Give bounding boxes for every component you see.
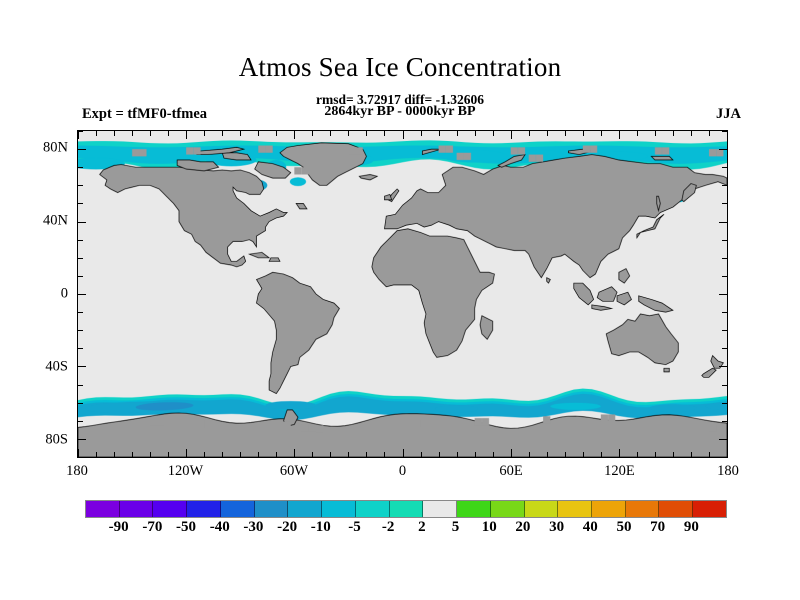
- colorbar-swatch: [457, 501, 491, 517]
- axis-tick: [637, 452, 638, 457]
- axis-tick: [132, 452, 133, 457]
- axis-tick: [673, 452, 674, 457]
- colorbar-swatch: [356, 501, 390, 517]
- axis-tick: [312, 131, 313, 136]
- axis-tick: [78, 131, 79, 139]
- axis-tick: [78, 457, 83, 458]
- axis-tick: [240, 452, 241, 457]
- colorbar-swatch: [221, 501, 255, 517]
- axis-tick: [439, 452, 440, 457]
- axis-tick: [78, 276, 83, 277]
- colorbar-swatch: [558, 501, 592, 517]
- page-title: Atmos Sea Ice Concentration: [0, 52, 800, 83]
- axis-tick: [78, 222, 86, 223]
- axis-tick: [276, 131, 277, 136]
- axis-tick: [294, 131, 295, 139]
- axis-tick: [719, 294, 727, 295]
- axis-tick: [78, 439, 86, 440]
- axis-tick: [78, 258, 83, 259]
- x-axis-tick-label: 0: [399, 463, 406, 480]
- colorbar-tick-label: 40: [583, 519, 598, 536]
- x-axis-tick-label: 60E: [499, 463, 522, 480]
- colorbar-tick-label: -40: [210, 519, 230, 536]
- colorbar-tick-label: 70: [650, 519, 665, 536]
- axis-tick: [78, 449, 79, 457]
- colorbar-swatch: [288, 501, 322, 517]
- axis-tick: [637, 131, 638, 136]
- axis-tick: [722, 421, 727, 422]
- colorbar-swatch: [491, 501, 525, 517]
- axis-tick: [722, 348, 727, 349]
- axis-tick: [601, 131, 602, 136]
- axis-tick: [384, 131, 385, 136]
- colorbar-swatch: [255, 501, 289, 517]
- axis-tick: [529, 452, 530, 457]
- x-axis-tick-label: 60W: [280, 463, 308, 480]
- axis-tick: [722, 276, 727, 277]
- colorbar-swatch: [525, 501, 559, 517]
- axis-tick: [547, 131, 548, 136]
- axis-tick: [722, 385, 727, 386]
- axis-tick: [529, 131, 530, 136]
- y-axis-tick-label: 0: [8, 286, 68, 303]
- axis-tick: [691, 452, 692, 457]
- axis-tick: [673, 131, 674, 136]
- colorbar-tick-label: 50: [616, 519, 631, 536]
- axis-tick: [78, 312, 83, 313]
- axis-tick: [348, 452, 349, 457]
- colorbar-swatch: [86, 501, 120, 517]
- axis-tick: [348, 131, 349, 136]
- axis-tick: [276, 452, 277, 457]
- axis-tick: [619, 131, 620, 139]
- axis-tick: [719, 149, 727, 150]
- colorbar-swatch: [693, 501, 726, 517]
- axis-tick: [511, 449, 512, 457]
- colorbar-tick-label: 30: [549, 519, 564, 536]
- axis-tick: [78, 185, 83, 186]
- axis-tick: [78, 330, 83, 331]
- colorbar-swatch: [592, 501, 626, 517]
- colorbar-swatch: [153, 501, 187, 517]
- axis-tick: [78, 385, 83, 386]
- y-axis-tick-label: 80S: [8, 431, 68, 448]
- axis-tick: [114, 452, 115, 457]
- colorbar-swatch: [390, 501, 424, 517]
- axis-tick: [403, 131, 404, 139]
- y-axis-tick-label: 80N: [8, 140, 68, 157]
- axis-tick: [719, 439, 727, 440]
- experiment-label: Expt = tfMF0-tfmea: [82, 106, 207, 123]
- axis-tick: [722, 312, 727, 313]
- axis-tick: [722, 240, 727, 241]
- axis-tick: [722, 203, 727, 204]
- axis-tick: [655, 131, 656, 136]
- axis-tick: [709, 452, 710, 457]
- axis-tick: [722, 403, 727, 404]
- axis-tick: [475, 131, 476, 136]
- axis-tick: [294, 449, 295, 457]
- axis-tick: [168, 131, 169, 136]
- axis-tick: [403, 449, 404, 457]
- axis-tick: [439, 131, 440, 136]
- axis-tick: [493, 131, 494, 136]
- axis-tick: [78, 167, 83, 168]
- colorbar-tick-label: 20: [515, 519, 530, 536]
- axis-tick: [457, 452, 458, 457]
- colorbar-swatch: [626, 501, 660, 517]
- colorbar-swatch: [659, 501, 693, 517]
- x-axis-tick-label: 180: [717, 463, 739, 480]
- axis-tick: [78, 294, 86, 295]
- axis-tick: [709, 131, 710, 136]
- colorbar-swatch: [187, 501, 221, 517]
- axis-tick: [655, 452, 656, 457]
- axis-tick: [719, 222, 727, 223]
- colorbar-tick-label: 5: [452, 519, 460, 536]
- axis-tick: [96, 131, 97, 136]
- axis-tick: [168, 452, 169, 457]
- axis-tick: [511, 131, 512, 139]
- axis-tick: [96, 452, 97, 457]
- colorbar-tick-label: -90: [109, 519, 129, 536]
- axis-tick: [722, 330, 727, 331]
- axis-tick: [222, 131, 223, 136]
- axis-tick: [475, 452, 476, 457]
- axis-tick: [78, 421, 83, 422]
- axis-tick: [240, 131, 241, 136]
- axis-tick: [366, 131, 367, 136]
- colorbar-tick-label: -10: [311, 519, 331, 536]
- axis-tick: [78, 366, 86, 367]
- x-axis-tick-label: 180: [66, 463, 88, 480]
- colorbar-tick-labels: -90-70-50-40-30-20-10-5-2251020304050709…: [85, 519, 725, 539]
- axis-tick: [722, 457, 727, 458]
- axis-tick: [601, 452, 602, 457]
- axis-tick: [258, 452, 259, 457]
- axis-tick: [222, 452, 223, 457]
- x-axis-tick-label: 120W: [168, 463, 203, 480]
- axis-tick: [727, 449, 728, 457]
- axis-tick: [366, 452, 367, 457]
- map-plot-area: [77, 130, 728, 458]
- colorbar-swatch: [322, 501, 356, 517]
- axis-tick: [421, 131, 422, 136]
- colorbar: [85, 500, 727, 518]
- axis-tick: [78, 348, 83, 349]
- axis-tick: [150, 452, 151, 457]
- axis-tick: [384, 452, 385, 457]
- axis-tick: [565, 452, 566, 457]
- colorbar-tick-label: -30: [243, 519, 263, 536]
- colorbar-tick-label: -70: [142, 519, 162, 536]
- axis-tick: [204, 452, 205, 457]
- y-axis-tick-label: 40N: [8, 213, 68, 230]
- axis-tick: [132, 131, 133, 136]
- colorbar-tick-label: -5: [348, 519, 361, 536]
- colorbar-tick-label: -2: [382, 519, 395, 536]
- axis-tick: [78, 403, 83, 404]
- axis-tick: [583, 131, 584, 136]
- axis-tick: [722, 258, 727, 259]
- colorbar-tick-label: -50: [176, 519, 196, 536]
- axis-tick: [719, 366, 727, 367]
- axis-tick: [583, 452, 584, 457]
- axis-tick: [150, 131, 151, 136]
- colorbar-swatch: [423, 501, 457, 517]
- axis-tick: [330, 131, 331, 136]
- axis-tick: [722, 131, 727, 132]
- axis-tick: [312, 452, 313, 457]
- axis-tick: [547, 452, 548, 457]
- season-label: JJA: [716, 106, 741, 123]
- colorbar-tick-label: -20: [277, 519, 297, 536]
- map-canvas: [78, 131, 727, 457]
- axis-tick: [691, 131, 692, 136]
- colorbar-tick-label: 90: [684, 519, 699, 536]
- axis-tick: [78, 131, 83, 132]
- y-axis-tick-label: 40S: [8, 358, 68, 375]
- x-axis-tick-label: 120E: [604, 463, 635, 480]
- axis-tick: [330, 452, 331, 457]
- axis-tick: [457, 131, 458, 136]
- axis-tick: [258, 131, 259, 136]
- axis-tick: [722, 185, 727, 186]
- axis-tick: [78, 149, 86, 150]
- axis-tick: [78, 240, 83, 241]
- axis-tick: [114, 131, 115, 136]
- axis-tick: [619, 449, 620, 457]
- axis-tick: [565, 131, 566, 136]
- axis-tick: [722, 167, 727, 168]
- colorbar-tick-label: 10: [482, 519, 497, 536]
- axis-tick: [493, 452, 494, 457]
- axis-tick: [727, 131, 728, 139]
- axis-tick: [78, 203, 83, 204]
- colorbar-swatch: [120, 501, 154, 517]
- colorbar-tick-label: 2: [418, 519, 426, 536]
- axis-tick: [204, 131, 205, 136]
- axis-tick: [186, 449, 187, 457]
- axis-tick: [186, 131, 187, 139]
- axis-tick: [421, 452, 422, 457]
